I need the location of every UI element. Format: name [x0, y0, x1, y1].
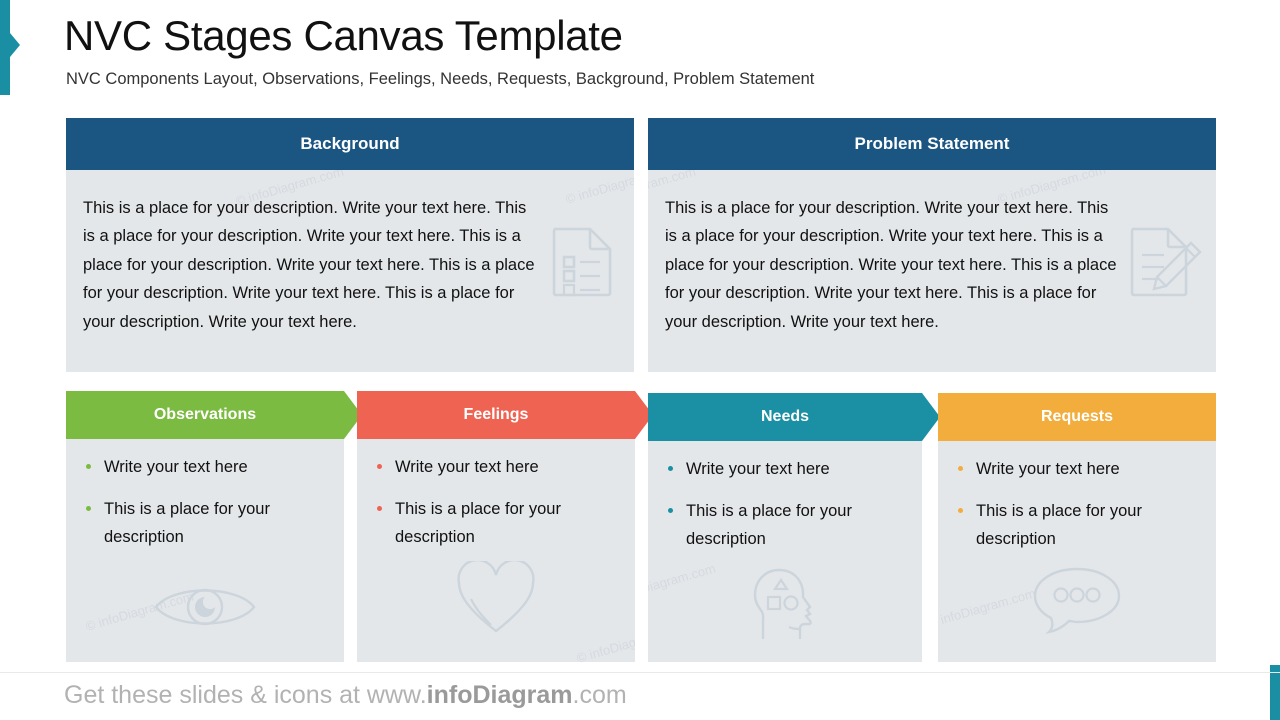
list-item: Write your text here	[84, 453, 332, 481]
footer-promo[interactable]: Get these slides & icons at www.infoDiag…	[64, 681, 627, 710]
column-feelings-title: Feelings	[464, 406, 529, 423]
panel-problem-statement-title: Problem Statement	[855, 134, 1010, 153]
page-title: NVC Stages Canvas Template	[64, 12, 623, 60]
right-accent-bar	[1270, 665, 1280, 720]
column-needs-body: © infoDiagram.com © infoDiagram.com Writ…	[648, 441, 922, 662]
column-feelings-header: Feelings	[357, 391, 635, 439]
column-observations-bullets: Write your text here This is a place for…	[84, 453, 332, 565]
list-item: This is a place for your description	[375, 495, 623, 551]
list-item: Write your text here	[666, 455, 910, 483]
eye-icon	[153, 579, 257, 640]
watermark: © infoDiagram.com	[938, 586, 1037, 631]
document-pencil-icon	[1128, 225, 1206, 302]
panel-problem-statement-text: This is a place for your description. Wr…	[665, 194, 1123, 336]
panel-background-title: Background	[300, 134, 399, 153]
list-item: This is a place for your description	[84, 495, 332, 551]
column-observations-title: Observations	[154, 406, 256, 423]
list-item: Write your text here	[956, 455, 1204, 483]
panel-problem-statement-header: Problem Statement	[648, 118, 1216, 170]
head-profile-shapes-icon	[752, 567, 818, 648]
panel-background-header: Background	[66, 118, 634, 170]
column-requests-body: © infoDiagram.com © infoDiagram.com Writ…	[938, 441, 1216, 662]
page-subtitle: NVC Components Layout, Observations, Fee…	[66, 70, 814, 89]
watermark: © infoDiagram.com	[564, 170, 634, 207]
speech-bubble-dots-icon	[1031, 565, 1123, 640]
panel-problem-statement-body: © infoDiagram.com © infoDiagram.com This…	[648, 170, 1216, 372]
left-accent-bar	[0, 0, 10, 95]
footer-suffix: .com	[573, 681, 627, 709]
column-needs-title: Needs	[761, 408, 809, 425]
heart-icon	[455, 561, 537, 640]
list-item: This is a place for your description	[956, 497, 1204, 553]
panel-background-body: © infoDiagram.com © infoDiagram.com This…	[66, 170, 634, 372]
column-feelings[interactable]: Feelings © infoDiagram.com © infoDiagram…	[357, 391, 635, 662]
column-requests-title: Requests	[1041, 408, 1113, 425]
left-accent-chevron-icon	[10, 33, 20, 57]
column-observations-header: Observations	[66, 391, 344, 439]
list-item: Write your text here	[375, 453, 623, 481]
column-feelings-body: © infoDiagram.com © infoDiagram.com Writ…	[357, 439, 635, 662]
watermark: © infoDiagram.com	[648, 561, 717, 606]
column-requests-header: Requests	[938, 393, 1216, 441]
panel-background[interactable]: Background © infoDiagram.com © infoDiagr…	[66, 118, 634, 372]
watermark: © infoDiagram.com	[575, 621, 635, 662]
column-requests[interactable]: Requests © infoDiagram.com © infoDiagram…	[938, 393, 1216, 662]
column-needs-header: Needs	[648, 393, 922, 441]
column-observations-body: © infoDiagram.com © infoDiagram.com Writ…	[66, 439, 344, 662]
column-observations[interactable]: Observations © infoDiagram.com © infoDia…	[66, 391, 344, 662]
footer-prefix: Get these slides & icons at www.	[64, 681, 427, 709]
list-item: This is a place for your description	[666, 497, 910, 553]
column-needs[interactable]: Needs © infoDiagram.com © infoDiagram.co…	[648, 393, 922, 662]
document-checklist-icon	[550, 225, 614, 302]
column-requests-bullets: Write your text here This is a place for…	[956, 455, 1204, 567]
slide-canvas: NVC Stages Canvas Template NVC Component…	[0, 0, 1280, 720]
column-needs-bullets: Write your text here This is a place for…	[666, 455, 910, 567]
panel-problem-statement[interactable]: Problem Statement © infoDiagram.com © in…	[648, 118, 1216, 372]
panel-background-text: This is a place for your description. Wr…	[83, 194, 541, 336]
footer-brand: infoDiagram	[427, 681, 573, 709]
footer-divider	[0, 672, 1280, 673]
column-feelings-bullets: Write your text here This is a place for…	[375, 453, 623, 565]
